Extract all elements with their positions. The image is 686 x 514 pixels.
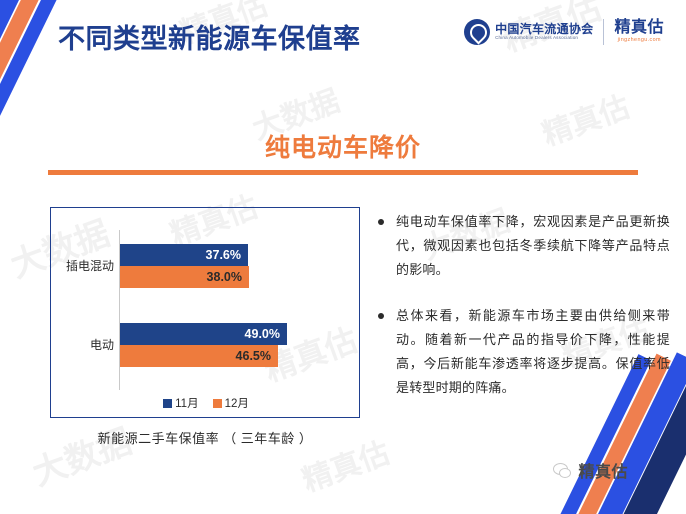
logo-block: 中国汽车流通协会 China Automobile Dealers Associ… [464,19,664,45]
watermark-text: 大数据 [25,414,138,495]
cada-logo-text: 中国汽车流通协会 China Automobile Dealers Associ… [495,23,593,41]
bar-value-label: 38.0% [207,270,249,284]
section-subtitle: 纯电动车降价 [0,128,686,164]
bar-ev-nov[interactable]: 49.0% [120,323,287,345]
bullet-text: 总体来看，新能源车市场主要由供给侧来带动。随着新一代产品的指导价下降，性能提高，… [396,304,670,400]
jingzhengu-name-en: jingzhengu.com [614,38,664,44]
logo-divider [603,19,604,45]
list-item: 总体来看，新能源车市场主要由供给侧来带动。随着新一代产品的指导价下降，性能提高，… [378,304,670,400]
legend-label: 11月 [175,395,198,411]
legend-label: 12月 [225,395,249,411]
jingzhengu-name-cn: 精真估 [614,20,664,37]
subtitle-divider [48,170,638,175]
bar-value-label: 49.0% [245,327,287,341]
wechat-icon [553,463,571,478]
chart-panel: 插电混动 37.6% 38.0% 电动 49.0% 46.5% [50,207,360,418]
bar-group-ev: 电动 49.0% 46.5% [120,323,287,367]
chart-plot-area: 插电混动 37.6% 38.0% 电动 49.0% 46.5% [51,208,361,419]
legend-swatch-orange [213,399,222,408]
bar-value-label: 46.5% [236,349,278,363]
bar-value-label: 37.6% [206,248,248,262]
bullet-dot-icon [378,313,384,319]
bar-phev-dec[interactable]: 38.0% [120,266,249,288]
bar-ev-dec[interactable]: 46.5% [120,345,278,367]
legend-swatch-blue [163,399,172,408]
category-label: 电动 [90,338,114,352]
bar-group-phev: 插电混动 37.6% 38.0% [120,244,249,288]
jingzhengu-logo: 精真估 jingzhengu.com [614,20,664,43]
category-label: 插电混动 [66,259,114,273]
footer-brand-name: 精真估 [578,458,628,482]
bullet-text: 纯电动车保值率下降，宏观因素是产品更新换代，微观因素也包括冬季续航下降等产品特点… [396,210,670,282]
wechat-bubble-small [559,468,571,478]
slide-header: 不同类型新能源车保值率 中国汽车流通协会 China Automobile De… [0,0,686,72]
cada-emblem-icon [464,19,490,45]
legend-item-nov[interactable]: 11月 [163,395,198,411]
chart-legend: 11月 12月 [51,395,361,411]
bullet-dot-icon [378,219,384,225]
cada-name-en: China Automobile Dealers Association [495,36,593,41]
footer-brand: 精真估 [553,458,628,482]
bar-phev-nov[interactable]: 37.6% [120,244,248,266]
cada-logo: 中国汽车流通协会 China Automobile Dealers Associ… [464,19,593,45]
list-item: 纯电动车保值率下降，宏观因素是产品更新换代，微观因素也包括冬季续航下降等产品特点… [378,210,670,282]
page-title: 不同类型新能源车保值率 [58,17,361,56]
bullet-list: 纯电动车保值率下降，宏观因素是产品更新换代，微观因素也包括冬季续航下降等产品特点… [378,210,670,422]
cada-name-cn: 中国汽车流通协会 [495,23,593,36]
chart-caption: 新能源二手车保值率 （ 三年车龄 ） [50,428,360,447]
legend-item-dec[interactable]: 12月 [213,395,249,411]
slide-canvas: 精真估 精真估 大数据 精真估 大数据 精真估 大数据 精真估 精真估 大数据 … [0,0,686,514]
